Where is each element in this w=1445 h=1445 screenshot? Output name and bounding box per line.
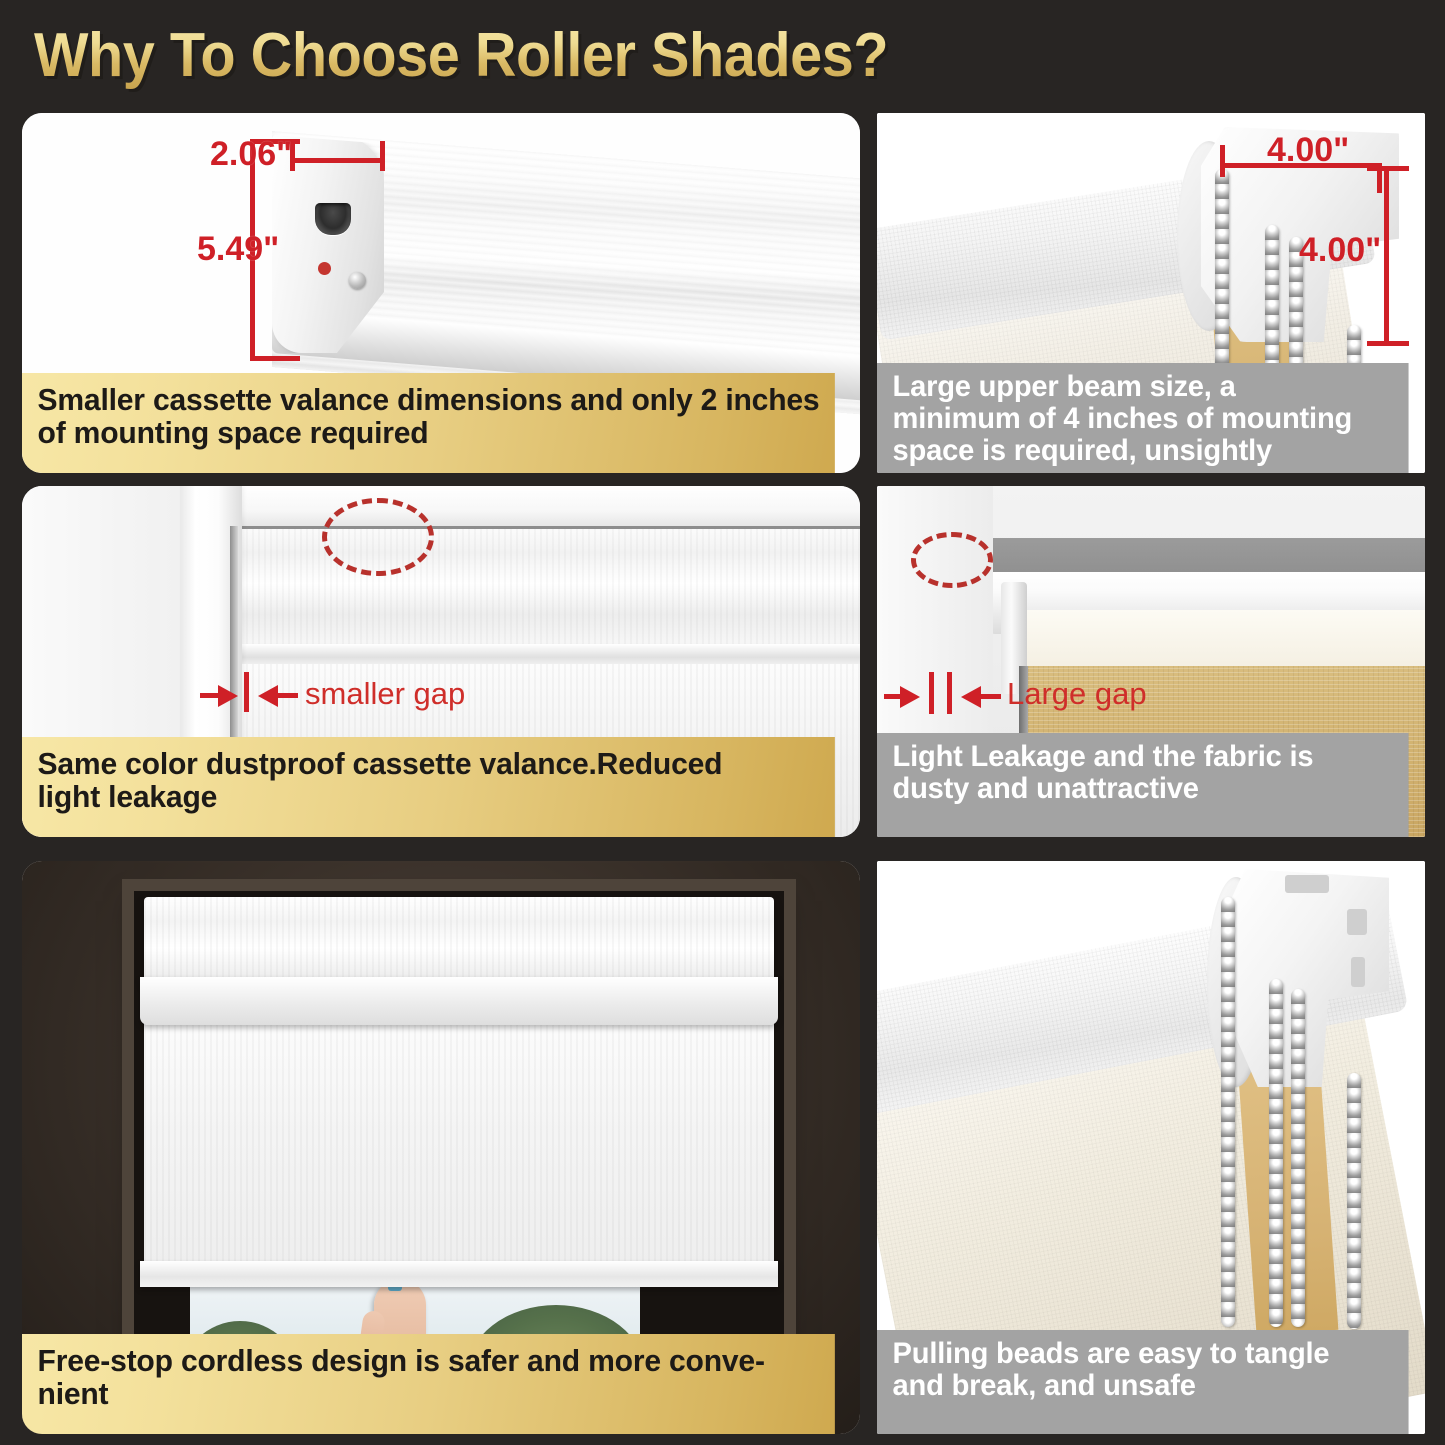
caption-good-cassette-size: Smaller cassette valance dimensions and … (22, 373, 835, 473)
caption-line: Light Leakage and the fabric is (893, 741, 1395, 773)
bead-chain-icon (1269, 979, 1283, 1327)
beam-height-tick-top (1367, 166, 1409, 171)
caption-line: Free-stop cordless design is safer and m… (38, 1344, 822, 1377)
caption-bad-pull-beads: Pulling beads are easy to tangle and bre… (877, 1330, 1409, 1434)
gap-arrow-stem (276, 693, 298, 698)
bead-chain-icon (1291, 989, 1305, 1327)
gap-arrow-left-icon (961, 686, 981, 708)
beam-height-label: 4.00" (1299, 231, 1381, 270)
height-dimension-tick-bottom (250, 356, 300, 361)
bead-chain-icon (1347, 1073, 1361, 1329)
gap-arrow-stem (884, 694, 904, 699)
caption-line: minimum of 4 inches of mounting (893, 403, 1395, 435)
caption-line: dusty and unattractive (893, 773, 1395, 805)
width-dimension-tick-right (380, 141, 385, 171)
gap-highlight-ellipse (911, 532, 993, 588)
caption-good-light-gap: Same color dustproof cassette valance.Re… (22, 737, 835, 837)
cassette-slot-icon (315, 203, 351, 235)
caption-good-cordless: Free-stop cordless design is safer and m… (22, 1334, 835, 1434)
screw-icon (349, 272, 366, 289)
beam-width-tick-left (1220, 145, 1225, 177)
gap-highlight-ellipse (322, 498, 434, 576)
gap-label-smaller: smaller gap (305, 676, 465, 712)
panel-bad-light-gap: Large gap Light Leakage and the fabric i… (877, 486, 1425, 837)
gap-label-large: Large gap (1007, 676, 1147, 712)
panel-bad-beam-size: 4.00" 4.00" Large upper beam size, a min… (877, 113, 1425, 473)
page-title: Why To Choose Roller Shades? (34, 20, 888, 91)
width-dimension-line (292, 158, 384, 163)
caption-line: Pulling beads are easy to tangle (893, 1338, 1395, 1370)
gap-bound-line (244, 672, 249, 712)
caption-bad-light-gap: Light Leakage and the fabric is dusty an… (877, 733, 1409, 837)
width-dimension-label: 2.06" (210, 135, 292, 174)
panel-bad-pull-beads: Pulling beads are easy to tangle and bre… (877, 861, 1425, 1434)
beam-height-dimension-line (1384, 168, 1389, 345)
caption-bad-beam-size: Large upper beam size, a minimum of 4 in… (877, 363, 1409, 473)
gap-arrow-stem (979, 694, 1001, 699)
caption-line: and break, and unsafe (893, 1370, 1395, 1402)
gap-arrow-left-icon (258, 685, 278, 707)
panel-good-light-gap: smaller gap Same color dustproof cassett… (22, 486, 860, 837)
height-dimension-label: 5.49" (197, 230, 279, 269)
caption-line: Same color dustproof cassette valance.Re… (38, 747, 822, 780)
beam-height-tick-bottom (1367, 341, 1409, 346)
panel-good-cordless: Free-stop cordless design is safer and m… (22, 861, 860, 1434)
caption-text: Smaller cassette valance dimensions and … (38, 383, 822, 449)
gap-bound-line (929, 672, 934, 714)
red-marker-dot (318, 262, 331, 275)
caption-line: light leakage (38, 780, 822, 813)
beam-width-label: 4.00" (1267, 131, 1349, 170)
gap-arrow-stem (200, 693, 222, 698)
bead-chain-icon (1221, 897, 1235, 1327)
gap-bound-line (947, 672, 952, 714)
caption-line: nient (38, 1377, 822, 1410)
caption-line: space is required, unsightly (893, 435, 1395, 467)
caption-line: Large upper beam size, a (893, 371, 1395, 403)
infographic-root: Why To Choose Roller Shades? Why To Choo… (0, 0, 1445, 1445)
panel-good-cassette-size: 5.49" 2.06" Smaller cassette valance dim… (22, 113, 860, 473)
